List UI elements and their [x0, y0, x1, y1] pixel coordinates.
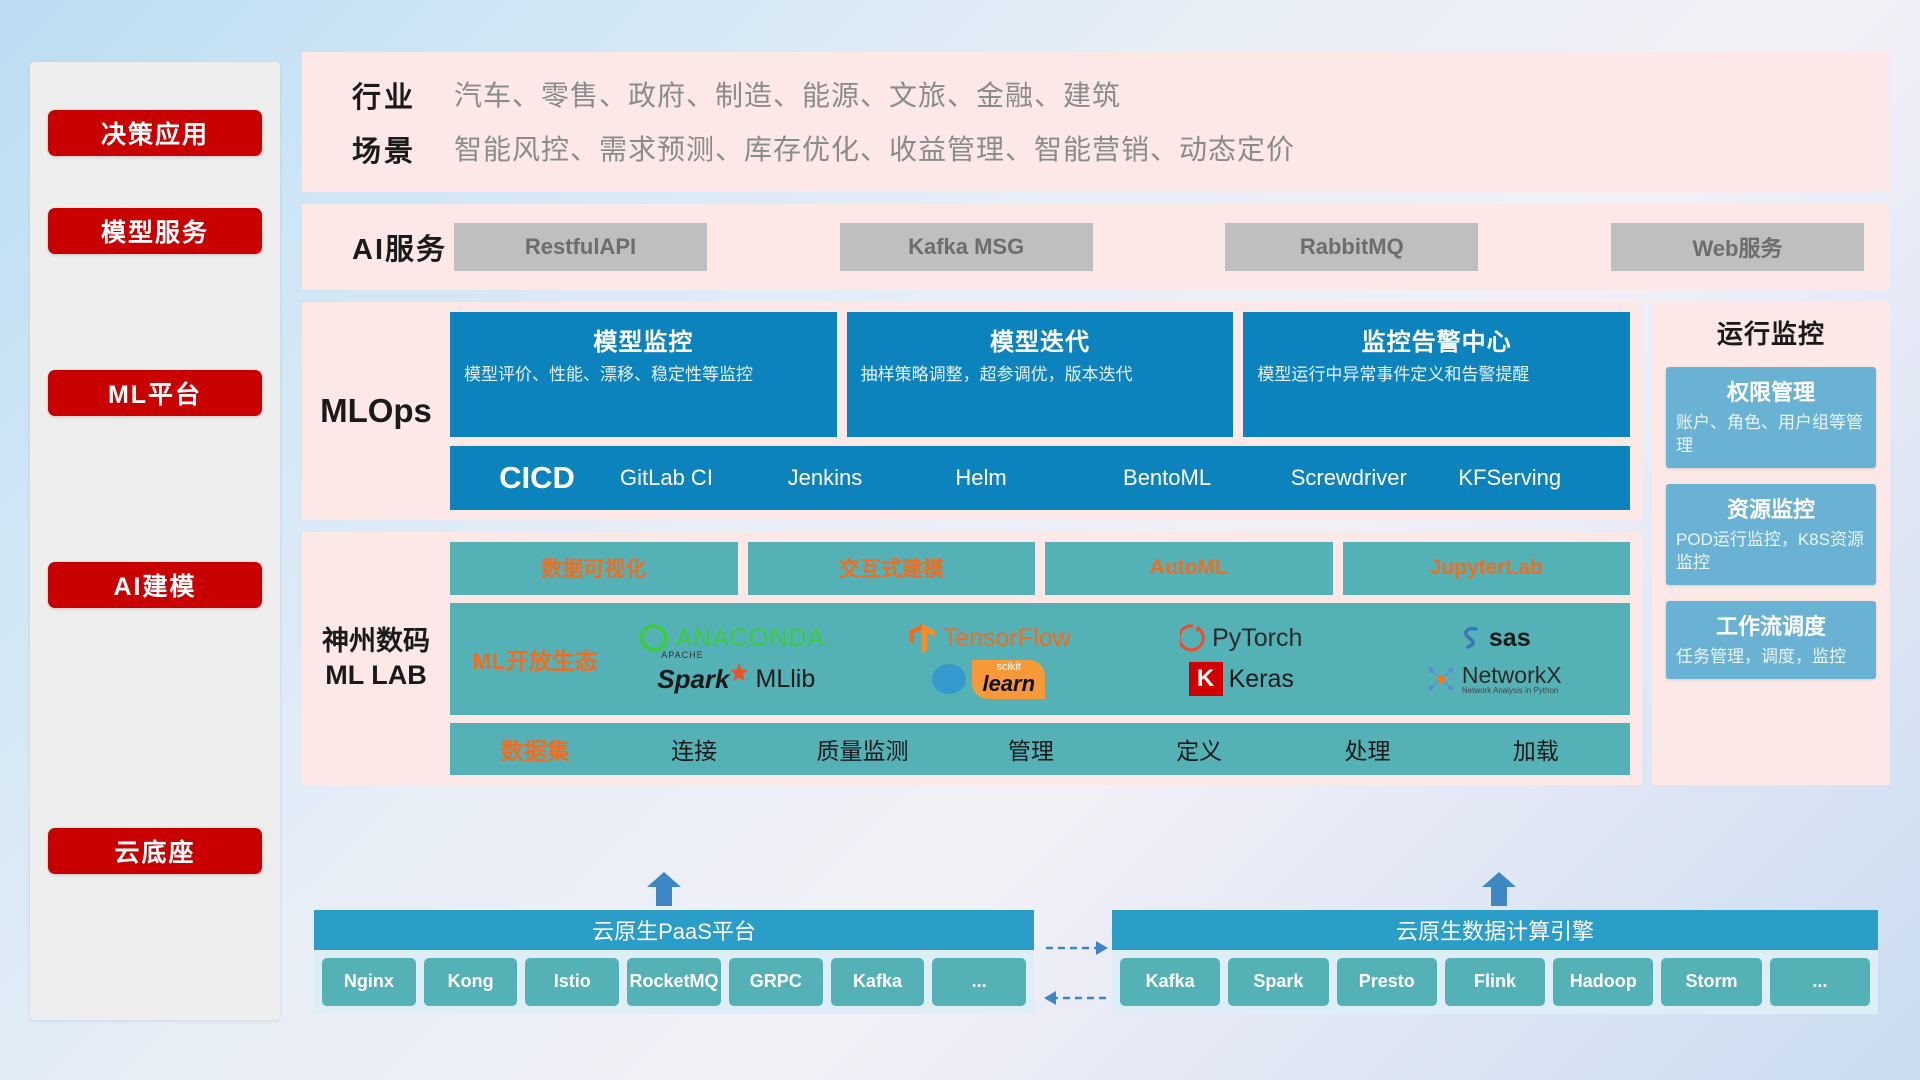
- cloud-chip-flink[interactable]: Flink: [1445, 958, 1545, 1006]
- ai-service-chip-rabbitmq[interactable]: RabbitMQ: [1225, 223, 1478, 271]
- cloud-data-title: 云原生数据计算引擎: [1112, 910, 1878, 950]
- mlops-card-desc: 抽样策略调整，超参调优，版本迭代: [861, 364, 1220, 387]
- networkx-subtitle-text: Network Analysis in Python: [1462, 687, 1562, 695]
- cloud-chip-spark[interactable]: Spark: [1228, 958, 1328, 1006]
- scikit-learn-logo: scikit learn: [932, 660, 1045, 699]
- mid-left-column: MLOps 模型监控 模型评价、性能、漂移、稳定性等监控 模型迭代 抽样策略调整…: [302, 302, 1642, 785]
- scenario-value-text: 智能风控、需求预测、库存优化、收益管理、智能营销、动态定价: [454, 128, 1295, 168]
- cloud-paas-title: 云原生PaaS平台: [314, 910, 1034, 950]
- mlops-band: MLOps 模型监控 模型评价、性能、漂移、稳定性等监控 模型迭代 抽样策略调整…: [302, 302, 1642, 520]
- mid-section: MLOps 模型监控 模型评价、性能、漂移、稳定性等监控 模型迭代 抽样策略调整…: [302, 302, 1890, 785]
- cloud-chip-storm[interactable]: Storm: [1661, 958, 1761, 1006]
- mlops-card-title: 模型迭代: [861, 322, 1220, 357]
- scenario-row: 场景 智能风控、需求预测、库存优化、收益管理、智能营销、动态定价: [328, 128, 1890, 170]
- mlops-card-title: 模型监控: [464, 322, 823, 357]
- ai-service-label: AI服务: [328, 226, 454, 268]
- mid-right-column: 运行监控 权限管理 账户、角色、用户组等管理 资源监控 POD运行监控，K8S资…: [1652, 302, 1890, 785]
- cloud-chip-presto[interactable]: Presto: [1337, 958, 1437, 1006]
- ai-service-band: AI服务 RestfulAPI Kafka MSG RabbitMQ Web服务: [302, 204, 1890, 290]
- networkx-logo: NetworkX Network Analysis in Python: [1426, 664, 1562, 695]
- tool-chip-interactive-modeling[interactable]: 交互式建模: [748, 542, 1036, 595]
- cloud-chip-more-data[interactable]: ...: [1770, 958, 1870, 1006]
- ml-lab-label-line2: ML LAB: [325, 659, 427, 693]
- layer-rail: 决策应用 模型服务 ML平台 AI建模 云底座: [30, 62, 280, 1020]
- mllib-logo-text: MLlib: [756, 665, 816, 694]
- cicd-title: CICD: [462, 460, 612, 496]
- sas-logo-text: sas: [1489, 624, 1531, 653]
- ai-service-chip-restfulapi[interactable]: RestfulAPI: [454, 223, 707, 271]
- spark-star-icon: [728, 662, 750, 684]
- cicd-item-bentoml[interactable]: BentoML: [1115, 465, 1283, 491]
- cloud-chip-kong[interactable]: Kong: [424, 958, 518, 1006]
- cloud-paas-block: 云原生PaaS平台 Nginx Kong Istio RocketMQ GRPC…: [314, 910, 1034, 1014]
- runtime-monitor-band: 运行监控 权限管理 账户、角色、用户组等管理 资源监控 POD运行监控，K8S资…: [1652, 302, 1890, 785]
- scikit-blue-blob-icon: [932, 664, 966, 694]
- cloud-chip-nginx[interactable]: Nginx: [322, 958, 416, 1006]
- main-column: 行业 汽车、零售、政府、制造、能源、文旅、金融、建筑 场景 智能风控、需求预测、…: [302, 52, 1890, 785]
- ai-service-chip-web-service[interactable]: Web服务: [1611, 223, 1864, 271]
- monitor-card-desc: 任务管理，调度，监控: [1676, 646, 1866, 669]
- cloud-data-chip-list: Kafka Spark Presto Flink Hadoop Storm ..…: [1112, 950, 1878, 1014]
- mlops-card-title: 监控告警中心: [1257, 322, 1616, 357]
- ai-service-chip-list: RestfulAPI Kafka MSG RabbitMQ Web服务: [454, 223, 1864, 271]
- tool-chip-automl[interactable]: AutoML: [1045, 542, 1333, 595]
- spark-logo-text: Spark: [657, 664, 729, 695]
- cloud-chip-hadoop[interactable]: Hadoop: [1553, 958, 1653, 1006]
- cicd-item-screwdriver[interactable]: Screwdriver: [1283, 465, 1451, 491]
- monitor-card-title: 资源监控: [1676, 492, 1866, 524]
- rail-item-decision-app[interactable]: 决策应用: [48, 110, 262, 156]
- mlops-card-desc: 模型评价、性能、漂移、稳定性等监控: [464, 364, 823, 387]
- tool-chip-data-visualization[interactable]: 数据可视化: [450, 542, 738, 595]
- ai-service-chip-kafka-msg[interactable]: Kafka MSG: [840, 223, 1093, 271]
- dataset-item-load[interactable]: 加载: [1452, 732, 1620, 766]
- dataset-row: 数据集 连接 质量监测 管理 定义 处理 加载: [450, 723, 1630, 775]
- scikit-orange-blob-icon: scikit learn: [972, 660, 1045, 699]
- scenario-key-label: 场景: [328, 128, 454, 170]
- cloud-chip-kafka[interactable]: Kafka: [831, 958, 925, 1006]
- tensorflow-mark-icon: [907, 622, 937, 654]
- mlops-card-model-iteration[interactable]: 模型迭代 抽样策略调整，超参调优，版本迭代: [847, 312, 1234, 437]
- industry-band: 行业 汽车、零售、政府、制造、能源、文旅、金融、建筑 场景 智能风控、需求预测、…: [302, 52, 1890, 192]
- mlops-card-alert-center[interactable]: 监控告警中心 模型运行中异常事件定义和告警提醒: [1243, 312, 1630, 437]
- runtime-monitor-title: 运行监控: [1666, 314, 1876, 351]
- scikit-learn-logo-text: learn: [982, 673, 1035, 695]
- dataset-item-quality-monitor[interactable]: 质量监测: [778, 732, 946, 766]
- cicd-item-helm[interactable]: Helm: [947, 465, 1115, 491]
- ai-modeling-band: 神州数码 ML LAB 数据可视化 交互式建模 AutoML JupyterLa…: [302, 532, 1642, 785]
- tool-chip-jupyterlab[interactable]: JupyterLab: [1343, 542, 1631, 595]
- cloud-chip-istio[interactable]: Istio: [525, 958, 619, 1006]
- anaconda-logo-text: ANACONDA.: [675, 624, 833, 653]
- anaconda-mark-icon: [639, 623, 669, 653]
- cloud-paas-chip-list: Nginx Kong Istio RocketMQ GRPC Kafka ...: [314, 950, 1034, 1014]
- mlops-label: MLOps: [302, 312, 450, 510]
- mlops-card-list: 模型监控 模型评价、性能、漂移、稳定性等监控 模型迭代 抽样策略调整，超参调优，…: [450, 312, 1630, 437]
- pytorch-flame-icon: [1180, 623, 1206, 653]
- networkx-logo-text: NetworkX: [1462, 664, 1562, 687]
- ml-ecosystem-label: ML开放生态: [460, 642, 610, 676]
- cloud-data-engine-block: 云原生数据计算引擎 Kafka Spark Presto Flink Hadoo…: [1112, 910, 1878, 1014]
- industry-row: 行业 汽车、零售、政府、制造、能源、文旅、金融、建筑: [328, 74, 1890, 116]
- cloud-foundation-section: 云原生PaaS平台 Nginx Kong Istio RocketMQ GRPC…: [302, 900, 1890, 1030]
- dataset-item-process[interactable]: 处理: [1283, 732, 1451, 766]
- networkx-graph-icon: [1426, 664, 1456, 694]
- ml-ecosystem-logo-grid: ANACONDA. TensorFlow: [610, 619, 1620, 699]
- tensorflow-logo: TensorFlow: [907, 622, 1071, 654]
- dataset-label: 数据集: [460, 732, 610, 766]
- rail-item-ml-platform[interactable]: ML平台: [48, 370, 262, 416]
- sas-mark-icon: [1457, 624, 1483, 652]
- cloud-chip-grpc[interactable]: GRPC: [729, 958, 823, 1006]
- tensorflow-logo-text: TensorFlow: [943, 624, 1071, 653]
- sas-logo: sas: [1457, 624, 1531, 653]
- cicd-item-gitlab-ci[interactable]: GitLab CI: [612, 465, 780, 491]
- cloud-chip-kafka-data[interactable]: Kafka: [1120, 958, 1220, 1006]
- monitor-card-workflow[interactable]: 工作流调度 任务管理，调度，监控: [1666, 601, 1876, 679]
- ml-ecosystem-row: ML开放生态 ANACONDA.: [450, 603, 1630, 716]
- rail-item-model-service[interactable]: 模型服务: [48, 208, 262, 254]
- dataset-item-define[interactable]: 定义: [1115, 732, 1283, 766]
- cicd-bar: CICD GitLab CI Jenkins Helm BentoML Scre…: [450, 446, 1630, 510]
- monitor-card-title: 工作流调度: [1676, 609, 1866, 641]
- monitor-card-permission[interactable]: 权限管理 账户、角色、用户组等管理: [1666, 367, 1876, 468]
- dataset-item-manage[interactable]: 管理: [947, 732, 1115, 766]
- spark-mllib-logo: APACHE Spark MLlib: [657, 664, 815, 695]
- industry-value-text: 汽车、零售、政府、制造、能源、文旅、金融、建筑: [454, 74, 1121, 114]
- cloud-chip-more[interactable]: ...: [932, 958, 1026, 1006]
- pytorch-logo: PyTorch: [1180, 623, 1302, 653]
- keras-mark-icon: K: [1189, 662, 1223, 696]
- mlops-content: 模型监控 模型评价、性能、漂移、稳定性等监控 模型迭代 抽样策略调整，超参调优，…: [450, 312, 1630, 510]
- ml-lab-label-line1: 神州数码: [322, 625, 430, 659]
- anaconda-logo: ANACONDA.: [639, 623, 833, 653]
- mlops-card-desc: 模型运行中异常事件定义和告警提醒: [1257, 364, 1616, 387]
- keras-logo: K Keras: [1189, 662, 1294, 696]
- pytorch-logo-text: PyTorch: [1212, 624, 1302, 653]
- spark-apache-text: APACHE: [661, 650, 703, 660]
- monitor-card-resource[interactable]: 资源监控 POD运行监控，K8S资源监控: [1666, 484, 1876, 585]
- cicd-item-jenkins[interactable]: Jenkins: [780, 465, 948, 491]
- keras-logo-text: Keras: [1229, 665, 1294, 694]
- modeling-content: 数据可视化 交互式建模 AutoML JupyterLab ML开放生态: [450, 542, 1630, 775]
- up-arrow-paas-icon: [647, 872, 681, 906]
- cloud-chip-rocketmq[interactable]: RocketMQ: [627, 958, 721, 1006]
- monitor-card-desc: 账户、角色、用户组等管理: [1676, 412, 1866, 458]
- cicd-item-kfserving[interactable]: KFServing: [1450, 465, 1618, 491]
- bidirectional-link-arrows-icon: [1044, 928, 1108, 1018]
- ml-lab-label: 神州数码 ML LAB: [302, 542, 450, 775]
- monitor-card-desc: POD运行监控，K8S资源监控: [1676, 529, 1866, 575]
- dataset-item-connect[interactable]: 连接: [610, 732, 778, 766]
- modeling-tool-chip-list: 数据可视化 交互式建模 AutoML JupyterLab: [450, 542, 1630, 595]
- industry-key-label: 行业: [328, 74, 454, 116]
- monitor-card-title: 权限管理: [1676, 375, 1866, 407]
- rail-item-ai-modeling[interactable]: AI建模: [48, 562, 262, 608]
- up-arrow-data-icon: [1482, 872, 1516, 906]
- rail-item-cloud-base[interactable]: 云底座: [48, 828, 262, 874]
- mlops-card-model-monitor[interactable]: 模型监控 模型评价、性能、漂移、稳定性等监控: [450, 312, 837, 437]
